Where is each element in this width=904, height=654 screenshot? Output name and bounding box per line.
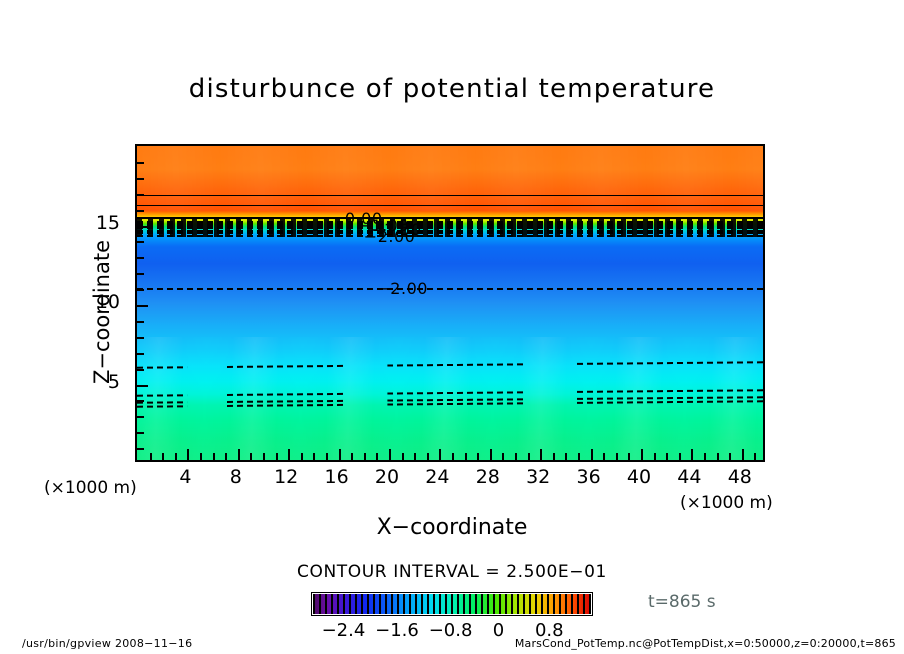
- contour-line-zero: [137, 217, 763, 219]
- y-axis-tick: [137, 337, 144, 339]
- page-title: disturbunce of potential temperature: [0, 74, 904, 104]
- colorbar-tick-label: 0.8: [522, 620, 576, 641]
- x-axis-tick: [351, 453, 353, 460]
- temperature-field: 0.00−1.50−1.00−2.00−2.00: [137, 146, 763, 460]
- contour-line: [137, 205, 763, 206]
- time-label: t=865 s: [648, 592, 716, 612]
- x-axis-tick: [162, 453, 164, 460]
- x-axis-tick: [427, 453, 429, 460]
- x-axis-tick: [477, 453, 479, 460]
- x-axis-tick: [754, 453, 756, 460]
- x-axis-tick: [465, 453, 467, 460]
- y-axis-tick-label: 5: [84, 371, 120, 393]
- x-axis-unit-right: (×1000 m): [680, 493, 773, 513]
- contour-interval-caption: CONTOUR INTERVAL = 2.500E−01: [0, 562, 904, 582]
- contour-label: −2.00: [376, 279, 428, 298]
- x-axis-tick: [502, 453, 504, 460]
- y-axis-tick: [137, 257, 144, 259]
- y-axis-tick: [137, 400, 144, 402]
- y-axis-tick-label: 10: [84, 291, 120, 313]
- y-axis-tick: [137, 385, 148, 387]
- x-axis-tick: [339, 449, 341, 460]
- y-axis-tick: [137, 448, 144, 450]
- x-axis-tick: [528, 453, 530, 460]
- x-axis-tick: [389, 449, 391, 460]
- colorbar: [311, 592, 593, 616]
- x-axis-unit-left: (×1000 m): [44, 478, 137, 498]
- x-axis-tick: [402, 453, 404, 460]
- y-axis-tick: [137, 353, 144, 355]
- x-axis-tick: [616, 453, 618, 460]
- x-axis-tick: [276, 453, 278, 460]
- x-axis-tick: [679, 453, 681, 460]
- x-axis-tick-label: 48: [710, 466, 770, 488]
- x-axis-tick: [742, 449, 744, 460]
- colorbar-frame: [311, 592, 593, 616]
- contour-label: −2.00: [364, 227, 416, 246]
- contour-plot: 0.00−1.50−1.00−2.00−2.00: [135, 144, 765, 462]
- x-axis-tick: [213, 453, 215, 460]
- colorbar-tick-label: −1.6: [370, 620, 424, 641]
- dense-contour-band: [137, 218, 763, 237]
- y-axis-tick: [137, 321, 144, 323]
- y-axis-tick: [137, 416, 144, 418]
- x-axis-tick: [591, 449, 593, 460]
- band-hatching: [137, 218, 763, 237]
- y-axis-tick: [137, 241, 144, 243]
- x-axis-tick: [666, 453, 668, 460]
- y-axis-tick: [137, 162, 144, 164]
- x-axis-tick: [263, 453, 265, 460]
- contour-line: [137, 288, 763, 290]
- x-axis-tick: [150, 453, 152, 460]
- colorbar-tick-label: 0: [472, 620, 526, 641]
- colorbar-tick-label: −2.4: [316, 620, 370, 641]
- footer-command: /usr/bin/gpview 2008−11−16: [22, 637, 192, 650]
- x-axis-tick: [452, 453, 454, 460]
- x-axis-tick: [691, 449, 693, 460]
- x-axis-tick: [200, 453, 202, 460]
- x-axis-tick: [515, 453, 517, 460]
- y-axis-tick: [137, 305, 148, 307]
- x-axis-tick: [490, 449, 492, 460]
- x-axis-tick: [238, 449, 240, 460]
- x-axis-tick: [704, 453, 706, 460]
- x-axis-tick: [553, 453, 555, 460]
- x-axis-tick: [313, 453, 315, 460]
- y-axis-tick-label: 15: [84, 212, 120, 234]
- x-axis-tick: [175, 453, 177, 460]
- y-axis-tick: [137, 369, 144, 371]
- x-axis-tick: [540, 449, 542, 460]
- colorbar-tick-label: −0.8: [424, 620, 478, 641]
- field-mottling-upper: [137, 146, 763, 211]
- x-axis-tick: [288, 449, 290, 460]
- x-axis-tick: [578, 453, 580, 460]
- x-axis-tick: [628, 453, 630, 460]
- x-axis-tick: [414, 453, 416, 460]
- x-axis-tick: [364, 453, 366, 460]
- colorbar-separators: [313, 594, 591, 614]
- x-axis-tick: [225, 453, 227, 460]
- y-axis-tick: [137, 194, 144, 196]
- x-axis-tick: [376, 453, 378, 460]
- contour-line: [137, 195, 763, 196]
- y-axis-tick: [137, 178, 144, 180]
- x-axis-tick: [439, 449, 441, 460]
- x-axis-tick: [654, 453, 656, 460]
- x-axis-tick: [729, 453, 731, 460]
- x-axis-label: X−coordinate: [0, 515, 904, 540]
- x-axis-tick: [565, 453, 567, 460]
- y-axis-tick: [137, 226, 148, 228]
- y-axis-tick: [137, 289, 144, 291]
- y-axis-tick: [137, 210, 144, 212]
- x-axis-tick: [717, 453, 719, 460]
- y-axis-tick: [137, 432, 144, 434]
- x-axis-tick: [603, 453, 605, 460]
- x-axis-tick: [250, 453, 252, 460]
- x-axis-tick: [187, 449, 189, 460]
- x-axis-tick: [641, 449, 643, 460]
- x-axis-tick: [326, 453, 328, 460]
- x-axis-tick: [301, 453, 303, 460]
- y-axis-tick: [137, 273, 144, 275]
